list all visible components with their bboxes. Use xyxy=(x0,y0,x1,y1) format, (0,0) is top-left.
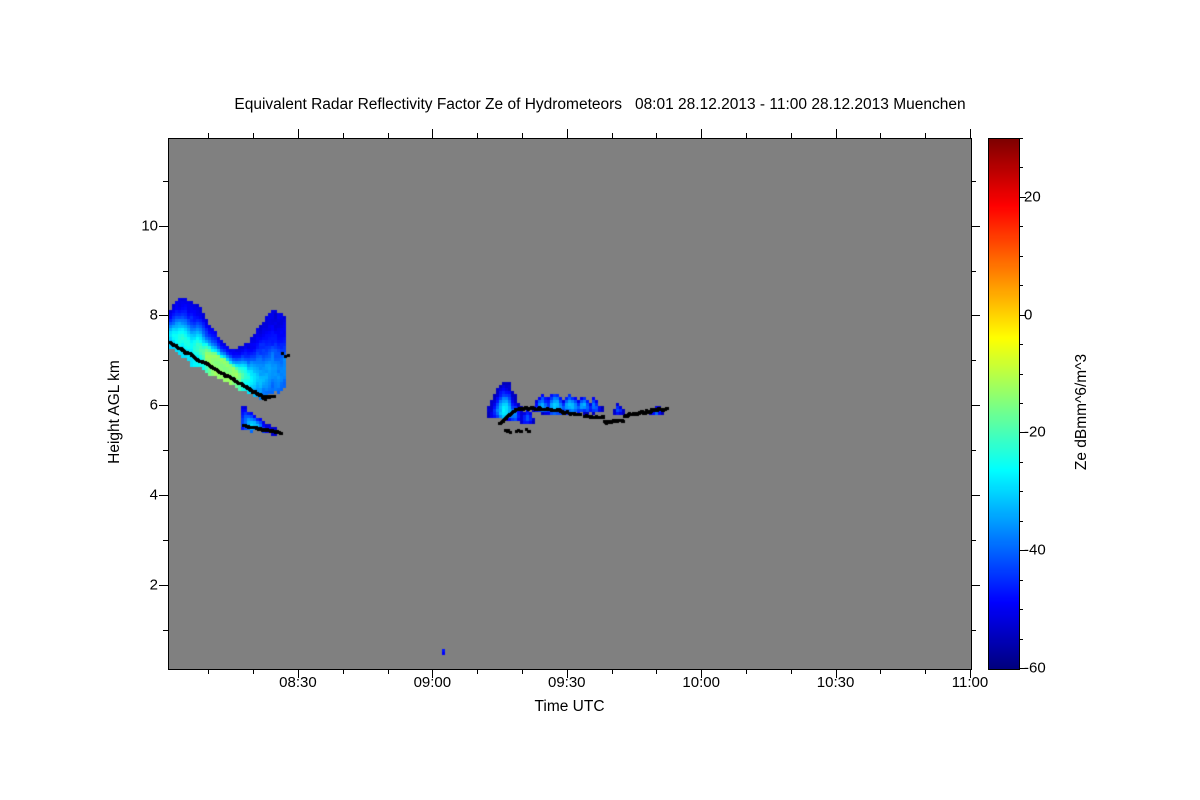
x-tick-label: 08:30 xyxy=(279,674,317,691)
y-tick-label: 10 xyxy=(141,217,158,234)
axis-tick xyxy=(208,669,209,674)
axis-tick xyxy=(925,133,926,138)
axis-tick xyxy=(298,129,299,138)
axis-tick xyxy=(253,669,254,674)
y-tick-label: 6 xyxy=(150,397,158,414)
axis-tick xyxy=(971,315,980,316)
axis-tick xyxy=(971,450,976,451)
axis-tick xyxy=(971,630,976,631)
axis-tick xyxy=(159,585,168,586)
x-tick-label: 09:30 xyxy=(548,674,586,691)
x-tick-label: 10:30 xyxy=(817,674,855,691)
axis-tick xyxy=(522,669,523,674)
axis-tick xyxy=(388,133,389,138)
x-tick-label: 09:00 xyxy=(414,674,452,691)
axis-tick xyxy=(477,133,478,138)
colorbar xyxy=(988,138,1020,670)
axis-tick xyxy=(971,181,976,182)
colorbar-axis-label: Ze dBmm^6/m^3 xyxy=(1073,292,1091,532)
axis-tick xyxy=(746,669,747,674)
reflectivity-heatmap-canvas xyxy=(169,139,971,669)
axis-tick xyxy=(970,129,971,138)
y-tick-label: 2 xyxy=(150,576,158,593)
axis-tick xyxy=(746,133,747,138)
axis-tick xyxy=(971,360,976,361)
axis-tick xyxy=(880,133,881,138)
axis-tick xyxy=(159,315,168,316)
axis-tick xyxy=(925,669,926,674)
page-title: Equivalent Radar Reflectivity Factor Ze … xyxy=(0,96,1200,114)
colorbar-tick-label: 0 xyxy=(1024,306,1032,323)
axis-tick xyxy=(971,585,980,586)
radar-reflectivity-figure: Equivalent Radar Reflectivity Factor Ze … xyxy=(0,0,1200,800)
axis-tick xyxy=(163,540,168,541)
axis-tick xyxy=(477,669,478,674)
axis-tick xyxy=(343,669,344,674)
axis-tick xyxy=(208,133,209,138)
axis-tick xyxy=(159,495,168,496)
axis-tick xyxy=(971,495,980,496)
axis-tick xyxy=(343,133,344,138)
axis-tick xyxy=(163,181,168,182)
axis-tick xyxy=(971,405,980,406)
x-tick-label: 10:00 xyxy=(682,674,720,691)
y-tick-label: 8 xyxy=(150,307,158,324)
axis-tick xyxy=(253,133,254,138)
x-tick-label: 11:00 xyxy=(952,674,988,691)
y-axis-label: Height AGL km xyxy=(106,292,124,532)
axis-tick xyxy=(159,226,168,227)
axis-tick xyxy=(971,540,976,541)
colorbar-tick-label: 20 xyxy=(1024,188,1041,205)
axis-tick xyxy=(612,669,613,674)
plot-area xyxy=(168,138,972,670)
axis-tick xyxy=(612,133,613,138)
axis-tick xyxy=(971,226,980,227)
axis-tick xyxy=(159,405,168,406)
colorbar-tick-label: -40 xyxy=(1024,542,1046,559)
axis-tick xyxy=(163,630,168,631)
axis-tick xyxy=(388,669,389,674)
y-tick-label: 4 xyxy=(150,487,158,504)
axis-tick xyxy=(880,669,881,674)
colorbar-tick-label: -60 xyxy=(1024,660,1046,677)
axis-tick xyxy=(791,669,792,674)
axis-tick xyxy=(971,271,976,272)
axis-tick xyxy=(432,129,433,138)
axis-tick xyxy=(163,360,168,361)
axis-tick xyxy=(656,133,657,138)
axis-tick xyxy=(791,133,792,138)
colorbar-gradient-canvas xyxy=(989,139,1019,669)
axis-tick xyxy=(656,669,657,674)
axis-tick xyxy=(163,450,168,451)
axis-tick xyxy=(163,271,168,272)
axis-tick xyxy=(522,133,523,138)
axis-tick xyxy=(701,129,702,138)
axis-tick xyxy=(836,129,837,138)
colorbar-tick-label: -20 xyxy=(1024,424,1046,441)
x-axis-label: Time UTC xyxy=(0,698,1139,716)
axis-tick xyxy=(567,129,568,138)
